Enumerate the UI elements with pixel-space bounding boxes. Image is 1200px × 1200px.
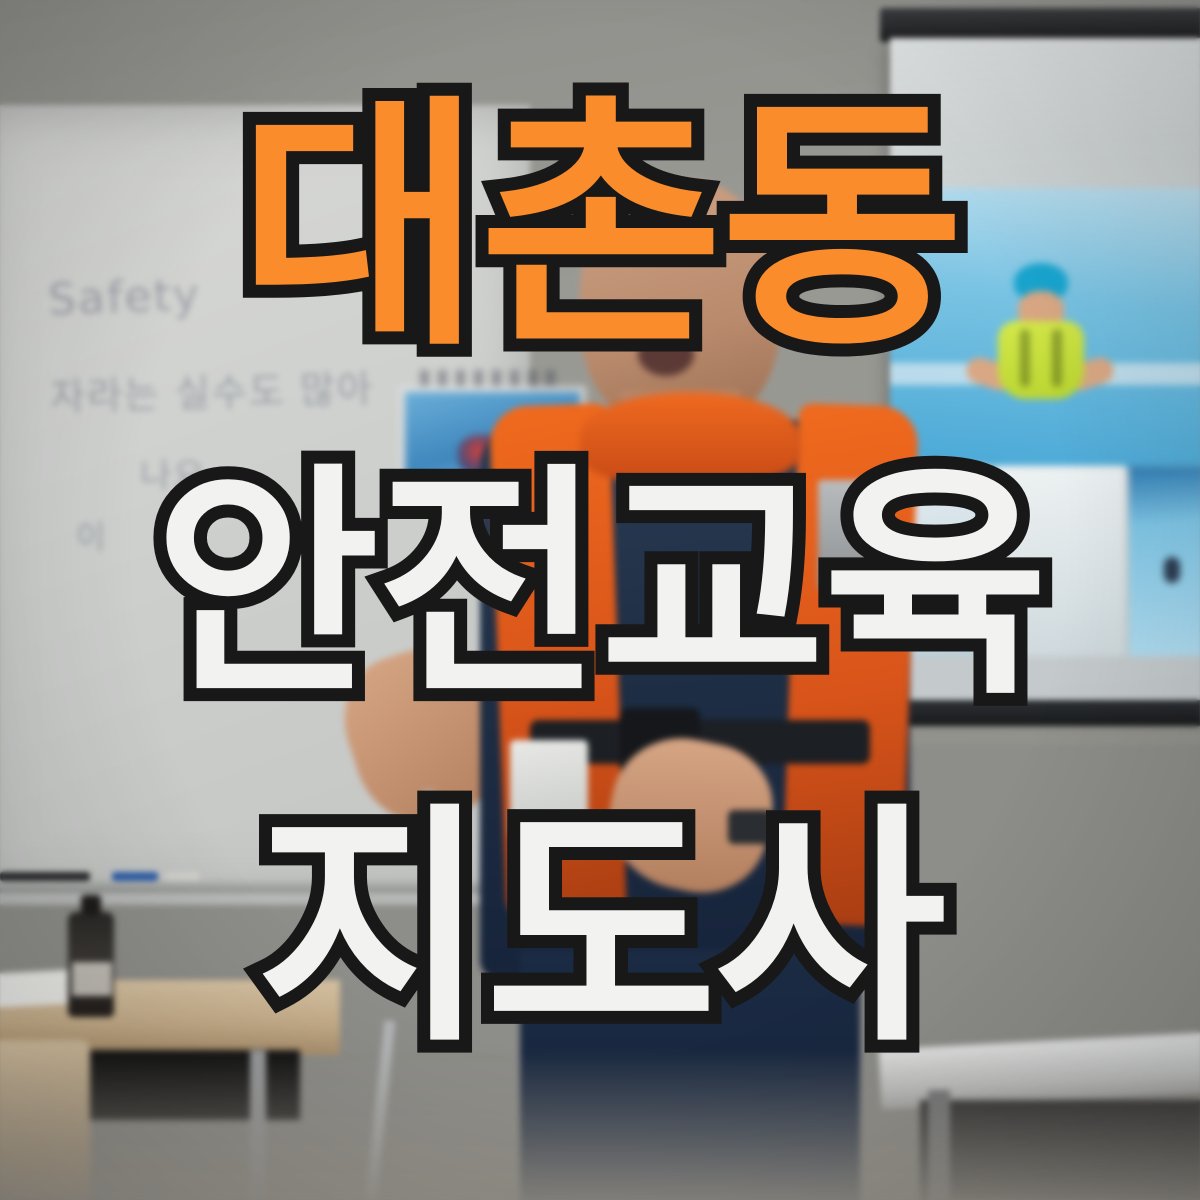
title-line-location: 대촌동	[238, 96, 961, 361]
poster-canvas: Safety 자라는 실수도 많아 나요 이	[0, 0, 1200, 1200]
title-overlay: 대촌동 안전교육 지도사	[0, 0, 1200, 1200]
title-line-program: 안전교육	[154, 463, 1046, 708]
title-line-role: 지도사	[256, 804, 944, 1056]
